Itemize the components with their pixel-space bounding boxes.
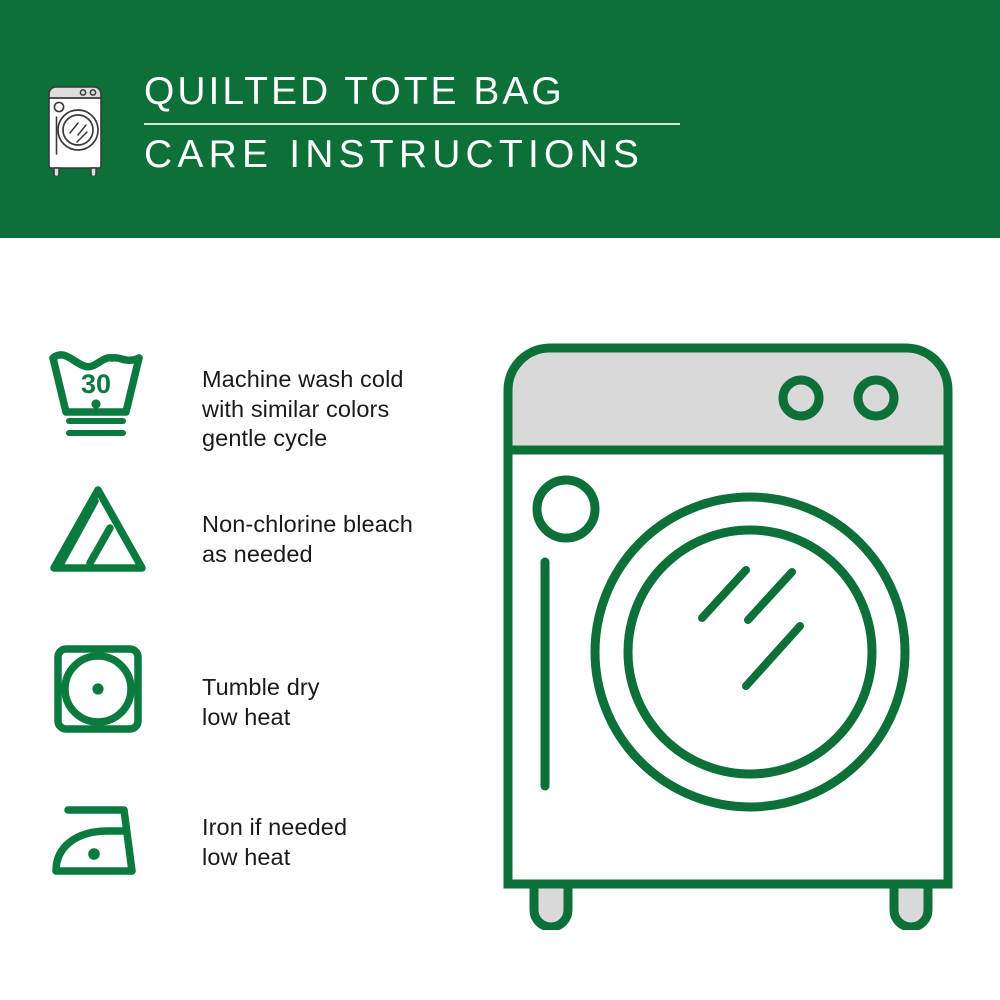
care-label-line: Machine wash cold <box>202 365 404 395</box>
care-label-line: low heat <box>202 843 347 873</box>
title-divider <box>144 123 680 125</box>
care-label-line: Tumble dry <box>202 673 320 703</box>
iron-low-heat-icon <box>46 791 166 901</box>
care-label-line: Non-chlorine bleach <box>202 510 413 540</box>
page-title: QUILTED TOTE BAG <box>144 68 744 116</box>
care-row: Tumble dry low heat <box>0 641 480 751</box>
care-row: Iron if needed low heat <box>0 791 480 901</box>
header-banner: QUILTED TOTE BAG CARE INSTRUCTIONS <box>0 0 1000 238</box>
header-title-group: QUILTED TOTE BAG CARE INSTRUCTIONS <box>144 68 744 180</box>
page-subtitle: CARE INSTRUCTIONS <box>144 130 744 180</box>
wash-temperature-value: 30 <box>81 369 111 399</box>
wash-tub-30-gentle-icon: 30 <box>46 346 166 456</box>
care-row: 30 Machine wash cold with similar colors… <box>0 346 480 456</box>
care-label: Machine wash cold with similar colors ge… <box>202 346 404 454</box>
large-washing-machine-illustration <box>498 338 968 930</box>
care-label: Tumble dry low heat <box>202 641 320 732</box>
care-label: Non-chlorine bleach as needed <box>202 481 413 569</box>
care-instructions-list: 30 Machine wash cold with similar colors… <box>0 238 480 1000</box>
tumble-dry-low-heat-icon <box>46 641 166 751</box>
care-label-line: gentle cycle <box>202 424 404 454</box>
machine-control-panel <box>508 348 948 450</box>
non-chlorine-bleach-triangle-icon <box>46 481 166 591</box>
care-row: Non-chlorine bleach as needed <box>0 481 480 591</box>
care-label-line: as needed <box>202 540 413 570</box>
machine-leg-right <box>894 884 928 927</box>
care-label-line: with similar colors <box>202 395 404 425</box>
care-label: Iron if needed low heat <box>202 791 347 872</box>
care-label-line: Iron if needed <box>202 813 347 843</box>
care-label-line: low heat <box>202 703 320 733</box>
washing-machine-icon <box>44 72 106 176</box>
machine-leg-left <box>534 884 568 927</box>
care-instructions-page: QUILTED TOTE BAG CARE INSTRUCTIONS 30 <box>0 0 1000 1000</box>
